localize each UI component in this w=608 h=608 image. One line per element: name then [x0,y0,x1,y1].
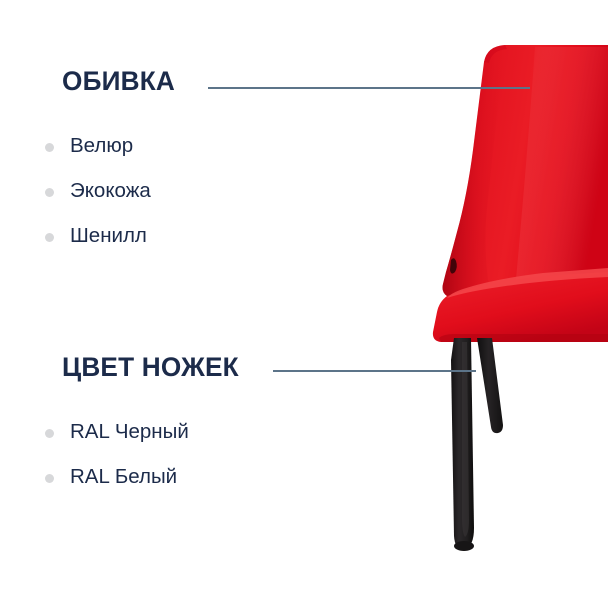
spec-item-label: Шенилл [70,226,147,247]
product-spec-card: ОБИВКА Велюр Экокожа Шенилл ЦВЕТ НОЖЕК R… [0,0,608,608]
list-item: Экокожа [0,169,151,214]
spec-item-label: RAL Белый [70,467,177,488]
bullet-icon [45,188,54,197]
list-item: Велюр [0,124,151,169]
list-item: RAL Белый [0,455,189,500]
spec-item-label: Велюр [70,136,133,157]
spec-heading-upholstery: ОБИВКА [62,66,175,96]
spec-list-upholstery: Велюр Экокожа Шенилл [0,124,151,259]
bullet-icon [45,429,54,438]
bullet-icon [45,233,54,242]
spec-item-label: RAL Черный [70,422,189,443]
bullet-icon [45,474,54,483]
leader-line-legcolor [273,370,476,372]
spec-item-label: Экокожа [70,181,151,202]
chair-rear-leg [477,338,503,433]
leader-line-upholstery [208,87,530,89]
chair-product-photo [395,0,608,608]
spec-heading-leg-color: ЦВЕТ НОЖЕК [62,352,239,382]
bullet-icon [45,143,54,152]
spec-list-leg-color: RAL Черный RAL Белый [0,410,189,500]
list-item: RAL Черный [0,410,189,455]
chair-front-leg-foot [454,541,474,551]
list-item: Шенилл [0,214,151,259]
